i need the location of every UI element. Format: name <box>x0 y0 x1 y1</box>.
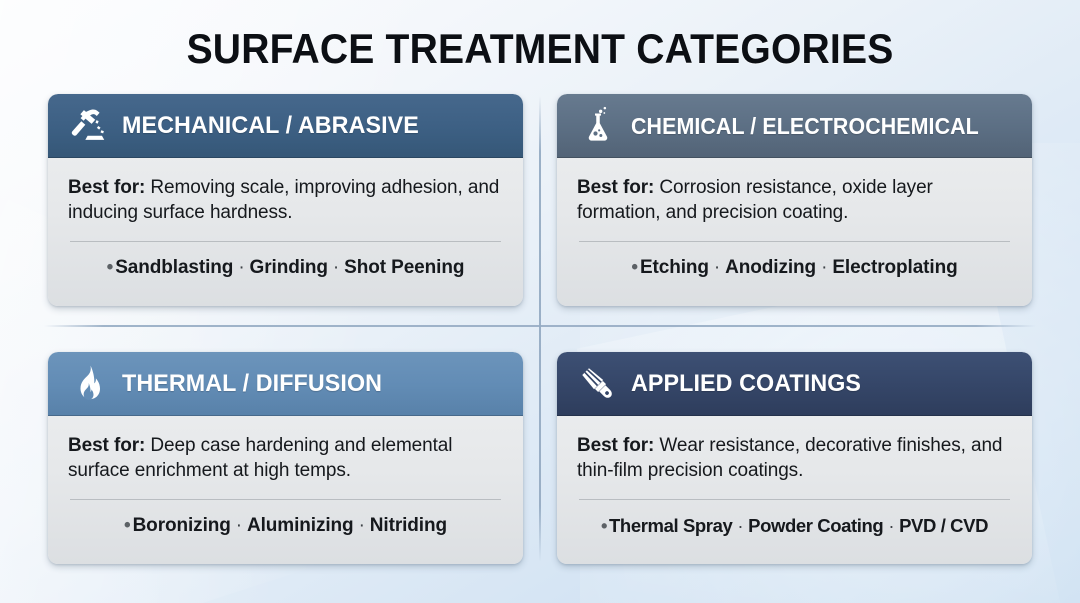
card-header-chemical-electrochemical: CHEMICAL / ELECTROCHEMICAL <box>557 94 1032 158</box>
category-card-mechanical-abrasive[interactable]: MECHANICAL / ABRASIVE Best for: Removing… <box>48 94 523 306</box>
card-body-thermal-diffusion: Best for: Deep case hardening and elemen… <box>48 416 523 564</box>
bullet-icon: • <box>631 257 638 278</box>
hammer-icon <box>66 103 112 149</box>
card-title-chemical-electrochemical: CHEMICAL / ELECTROCHEMICAL <box>631 113 979 140</box>
list-item: Boronizing <box>133 515 231 536</box>
separator-icon: · <box>231 515 247 536</box>
best-for-chemical-electrochemical: Best for: Corrosion resistance, oxide la… <box>577 175 1012 225</box>
category-card-chemical-electrochemical[interactable]: CHEMICAL / ELECTROCHEMICAL Best for: Cor… <box>557 94 1032 306</box>
bullet-icon: • <box>601 515 607 536</box>
card-header-thermal-diffusion: THERMAL / DIFFUSION <box>48 352 523 416</box>
separator-icon: · <box>233 257 249 278</box>
best-for-label: Best for: <box>577 177 654 198</box>
card-rule <box>70 241 501 242</box>
list-item: Nitriding <box>370 515 447 536</box>
card-rule <box>70 499 501 500</box>
paintbrush-icon <box>575 361 621 407</box>
card-rule <box>579 499 1010 500</box>
best-for-label: Best for: <box>68 177 145 198</box>
best-for-applied-coatings: Best for: Wear resistance, decorative fi… <box>577 433 1012 483</box>
best-for-thermal-diffusion: Best for: Deep case hardening and elemen… <box>68 433 503 483</box>
separator-icon: · <box>883 515 899 536</box>
list-item: Shot Peening <box>344 257 464 278</box>
divider-vertical <box>539 96 541 562</box>
separator-icon: · <box>709 257 725 278</box>
card-header-mechanical-abrasive: MECHANICAL / ABRASIVE <box>48 94 523 158</box>
card-rule <box>579 241 1010 242</box>
divider-horizontal <box>44 325 1036 327</box>
separator-icon: · <box>328 257 344 278</box>
list-item: PVD / CVD <box>899 515 988 536</box>
card-title-thermal-diffusion: THERMAL / DIFFUSION <box>122 370 382 398</box>
card-body-chemical-electrochemical: Best for: Corrosion resistance, oxide la… <box>557 158 1032 306</box>
bullet-icon: • <box>107 257 114 278</box>
item-list-mechanical-abrasive: •Sandblasting·Grinding·Shot Peening <box>68 257 503 279</box>
flame-icon <box>66 361 112 407</box>
category-card-thermal-diffusion[interactable]: THERMAL / DIFFUSION Best for: Deep case … <box>48 352 523 564</box>
card-header-applied-coatings: APPLIED COATINGS <box>557 352 1032 416</box>
best-for-label: Best for: <box>68 435 145 456</box>
card-title-mechanical-abrasive: MECHANICAL / ABRASIVE <box>122 112 419 140</box>
best-for-label: Best for: <box>577 435 654 456</box>
page-title: SURFACE TREATMENT CATEGORIES <box>38 0 1042 70</box>
card-body-applied-coatings: Best for: Wear resistance, decorative fi… <box>557 416 1032 564</box>
infographic-page: SURFACE TREATMENT CATEGORIES MECHANICAL … <box>0 0 1080 603</box>
item-list-applied-coatings: •Thermal Spray·Powder Coating·PVD / CVD <box>577 515 1012 537</box>
list-item: Electroplating <box>832 257 957 278</box>
card-title-applied-coatings: APPLIED COATINGS <box>631 370 861 398</box>
list-item: Powder Coating <box>748 515 883 536</box>
list-item: Thermal Spray <box>609 515 732 536</box>
card-body-mechanical-abrasive: Best for: Removing scale, improving adhe… <box>48 158 523 306</box>
separator-icon: · <box>354 515 370 536</box>
flask-icon <box>575 103 621 149</box>
separator-icon: · <box>732 515 748 536</box>
list-item: Aluminizing <box>247 515 354 536</box>
list-item: Sandblasting <box>115 257 233 278</box>
category-card-applied-coatings[interactable]: APPLIED COATINGS Best for: Wear resistan… <box>557 352 1032 564</box>
bullet-icon: • <box>124 515 131 536</box>
list-item: Grinding <box>250 257 328 278</box>
item-list-thermal-diffusion: •Boronizing·Aluminizing·Nitriding <box>68 515 503 537</box>
item-list-chemical-electrochemical: •Etching·Anodizing·Electroplating <box>577 257 1012 279</box>
list-item: Etching <box>640 257 709 278</box>
list-item: Anodizing <box>725 257 816 278</box>
best-for-mechanical-abrasive: Best for: Removing scale, improving adhe… <box>68 175 503 225</box>
separator-icon: · <box>816 257 832 278</box>
